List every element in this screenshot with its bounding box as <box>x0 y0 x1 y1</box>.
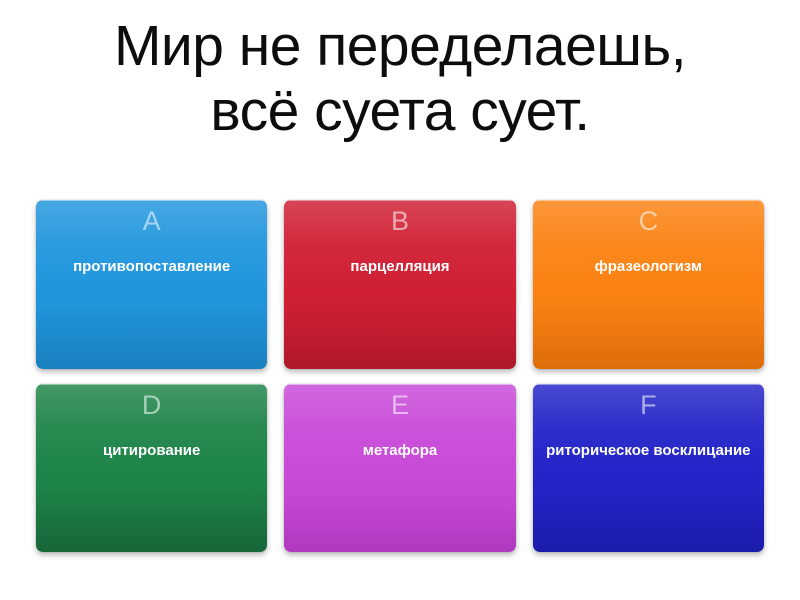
answer-letter-f: F <box>533 392 764 419</box>
answer-letter-a: A <box>36 208 267 235</box>
answer-letter-e: E <box>284 392 515 419</box>
answer-card-f[interactable]: F риторическое восклицание <box>533 384 764 553</box>
answer-letter-d: D <box>36 392 267 419</box>
answer-card-a[interactable]: A противопоставление <box>36 200 267 369</box>
answer-card-e[interactable]: E метафора <box>284 384 515 553</box>
answer-label-b: парцелляция <box>290 258 509 276</box>
answer-letter-b: B <box>284 208 515 235</box>
answer-label-a: противопоставление <box>42 258 261 276</box>
answer-label-e: метафора <box>290 442 509 460</box>
answer-card-b[interactable]: B парцелляция <box>284 200 515 369</box>
answer-label-f: риторическое восклицание <box>539 442 758 460</box>
answer-label-d: цитирование <box>42 442 261 460</box>
answer-letter-c: C <box>533 208 764 235</box>
answer-card-d[interactable]: D цитирование <box>36 384 267 553</box>
answer-options-grid: A противопоставление B парцелляция C фра… <box>36 200 764 552</box>
question-prompt: Мир не переделаешь, всё суета сует. <box>0 14 800 144</box>
quiz-screen: Мир не переделаешь, всё суета сует. A пр… <box>0 0 800 600</box>
answer-label-c: фразеологизм <box>539 258 758 276</box>
answer-card-c[interactable]: C фразеологизм <box>533 200 764 369</box>
